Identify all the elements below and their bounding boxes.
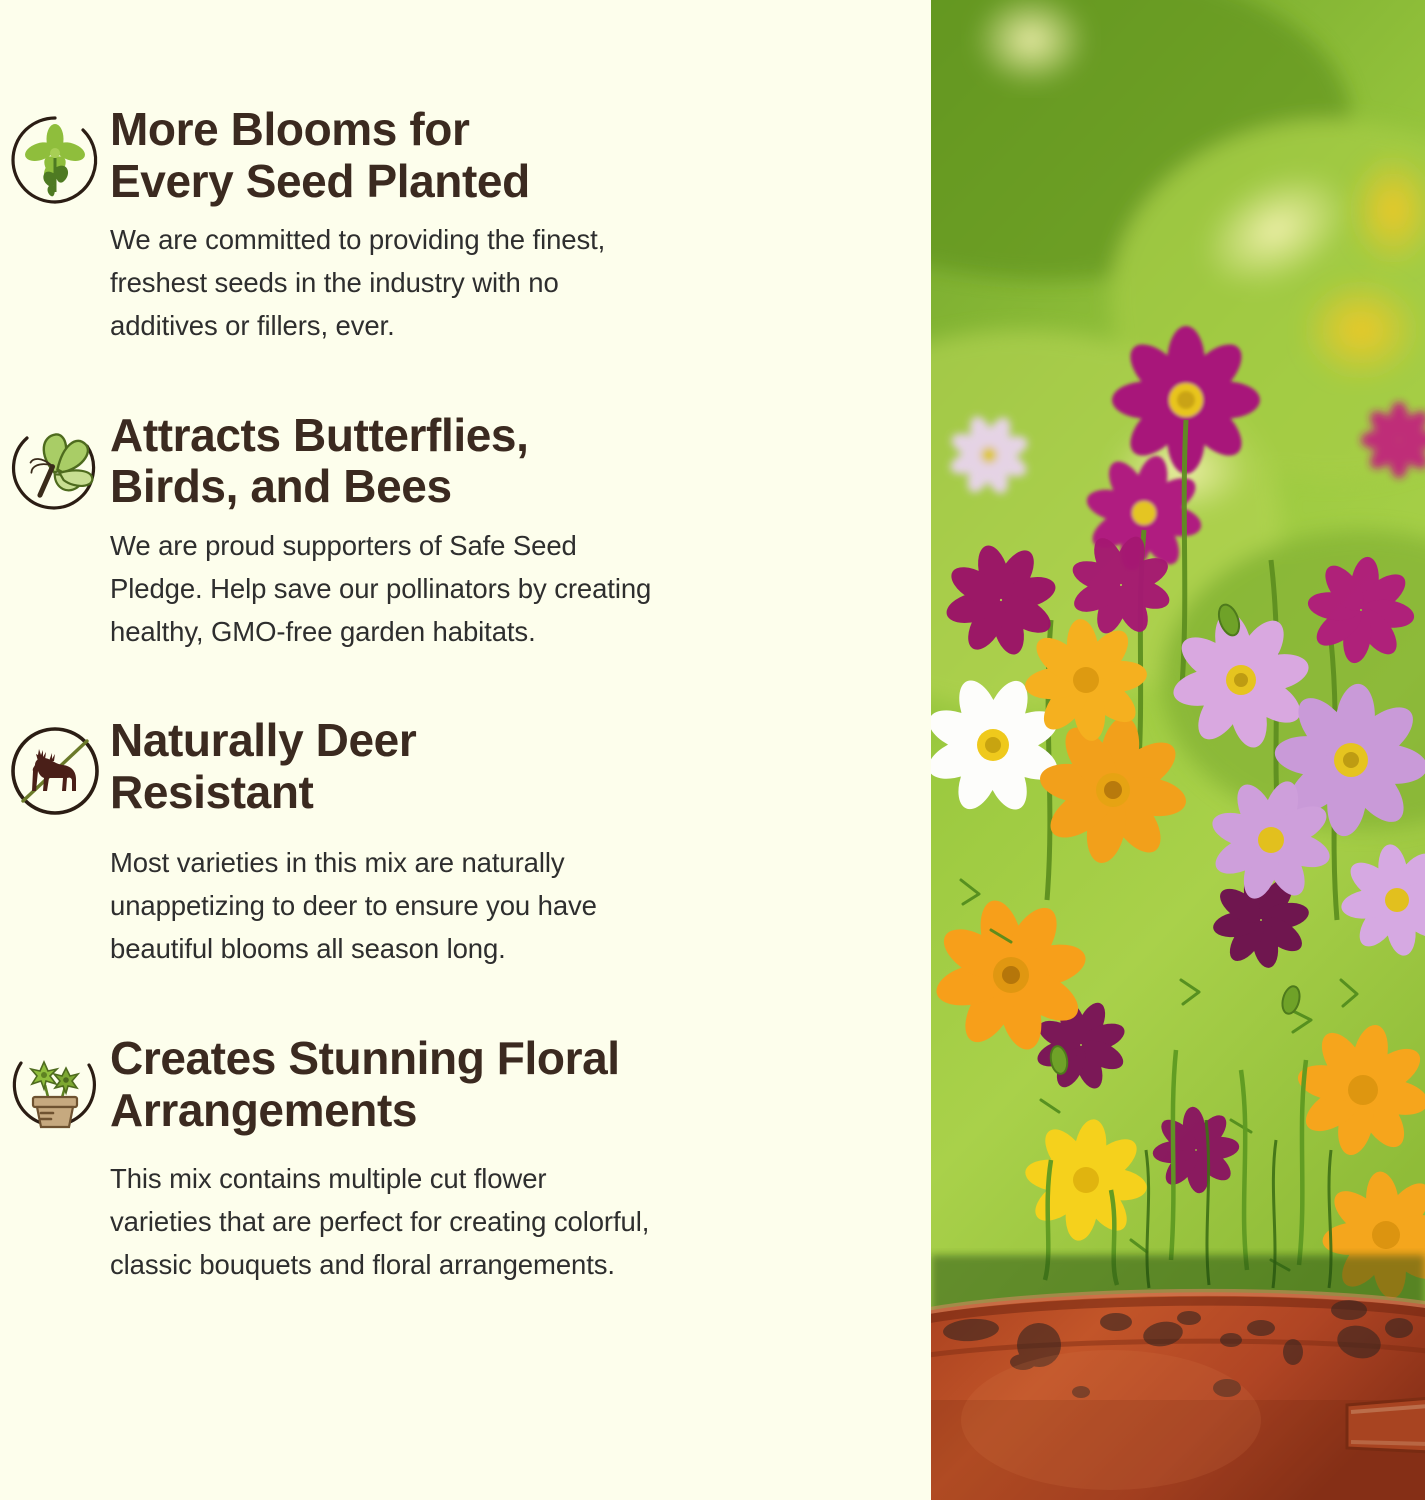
feature-heading: Attracts Butterflies, Birds, and Bees [110,410,801,513]
feature-content: Naturally Deer Resistant Most varieties … [110,715,871,971]
terracotta-pot [931,1292,1425,1500]
feature-heading: Creates Stunning Floral Arrangements [110,1033,801,1136]
feature-item-deer-resistant: Naturally Deer Resistant Most varieties … [0,715,871,971]
feature-description: This mix contains multiple cut flower va… [110,1158,801,1287]
product-feature-infographic: More Blooms for Every Seed Planted We ar… [0,0,1425,1500]
feature-heading: More Blooms for Every Seed Planted [110,104,801,207]
feature-item-more-blooms: More Blooms for Every Seed Planted We ar… [0,104,871,348]
potted-flowers-icon [0,1033,110,1139]
feature-item-attracts-pollinators: Attracts Butterflies, Birds, and Bees We… [0,410,871,654]
feature-list-panel: More Blooms for Every Seed Planted We ar… [0,0,931,1500]
feature-description: Most varieties in this mix are naturally… [110,842,801,971]
flower-bloom-icon [0,104,110,210]
feature-heading: Naturally Deer Resistant [110,715,801,818]
feature-description: We are proud supporters of Safe Seed Ple… [110,525,801,654]
feature-content: Attracts Butterflies, Birds, and Bees We… [110,410,871,654]
product-photo [931,0,1425,1500]
no-deer-icon [0,715,110,821]
cosmos-flowers-photo [931,0,1425,1500]
feature-content: Creates Stunning Floral Arrangements Thi… [110,1033,871,1287]
feature-item-floral-arrangements: Creates Stunning Floral Arrangements Thi… [0,1033,871,1287]
feature-content: More Blooms for Every Seed Planted We ar… [110,104,871,348]
feature-description: We are committed to providing the finest… [110,219,801,348]
butterfly-icon [0,410,110,516]
